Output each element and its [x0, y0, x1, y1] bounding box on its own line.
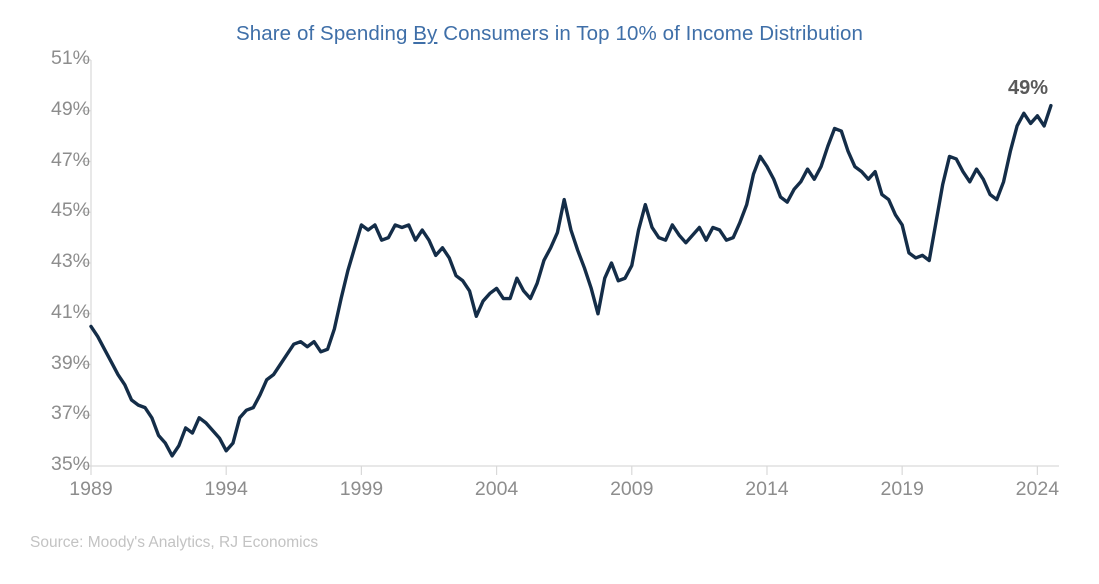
x-axis-tick-label: 2004 — [452, 478, 542, 501]
y-axis-tick-label: 39% — [26, 352, 90, 375]
chart-container: Share of Spending By Consumers in Top 10… — [0, 0, 1099, 584]
x-axis-tick-label: 2014 — [722, 478, 812, 501]
y-axis-tick-label: 49% — [26, 98, 90, 121]
axis-group — [82, 60, 1059, 475]
x-axis-tick-label: 1989 — [46, 478, 136, 501]
x-axis-tick-label: 1999 — [316, 478, 406, 501]
y-axis-tick-label: 37% — [26, 402, 90, 425]
y-axis-tick-label: 35% — [26, 453, 90, 476]
data-series-line — [91, 106, 1051, 456]
x-axis-tick-label: 2024 — [992, 478, 1082, 501]
source-note: Source: Moody's Analytics, RJ Economics — [30, 534, 318, 552]
y-axis-tick-label: 45% — [26, 199, 90, 222]
end-value-label: 49% — [1008, 77, 1048, 100]
x-axis-tick-label: 2019 — [857, 478, 947, 501]
y-axis-tick-label: 51% — [26, 47, 90, 70]
x-axis-tick-label: 2009 — [587, 478, 677, 501]
x-axis-tick-label: 1994 — [181, 478, 271, 501]
y-axis-tick-label: 43% — [26, 250, 90, 273]
y-axis-tick-label: 47% — [26, 149, 90, 172]
y-axis-tick-label: 41% — [26, 301, 90, 324]
